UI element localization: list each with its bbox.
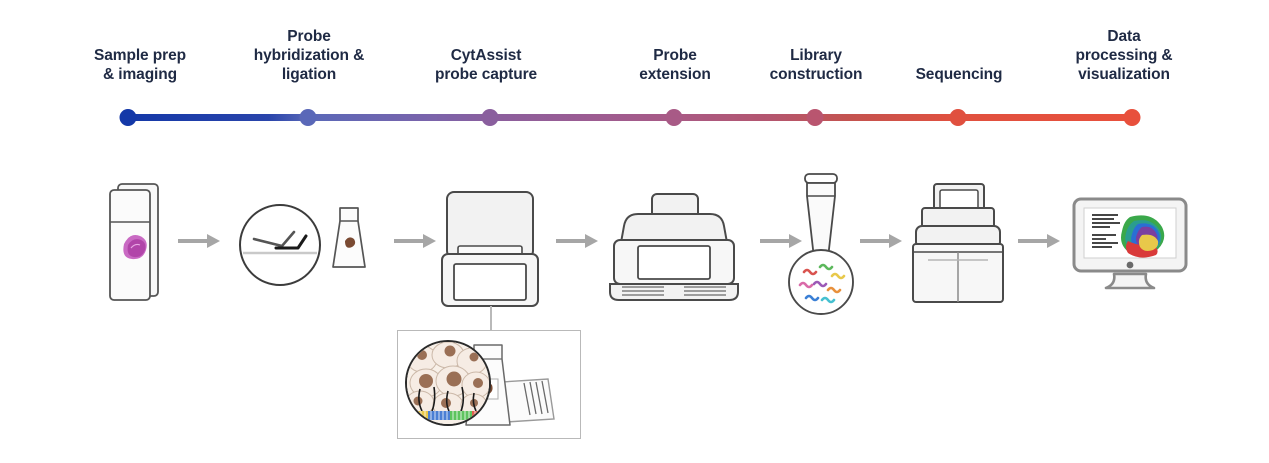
timeline-dot-data-processing: [1124, 109, 1141, 126]
thermocycler-icon: [604, 192, 744, 307]
arrow-5: [860, 234, 902, 248]
timeline-dot-probe-hyb: [300, 109, 317, 126]
step-label-probe-hyb: Probe hybridization & ligation: [218, 27, 400, 84]
timeline-dot-cytassist-capture: [482, 109, 499, 126]
sequencer-icon: [908, 182, 1008, 311]
library-tube-icon: [780, 172, 862, 323]
arrow-2: [394, 234, 436, 248]
step-label-data-processing: Data processing & visualization: [1040, 27, 1208, 84]
callout-cell-circle: [406, 341, 492, 425]
cytassist-instrument-icon: [440, 190, 540, 313]
arrow-1: [178, 234, 220, 248]
arrow-6: [1018, 234, 1060, 248]
microscope-slide-icon: [104, 182, 170, 307]
cytassist-detail-callout: [397, 330, 581, 439]
timeline-dot-sample-prep: [120, 109, 137, 126]
step-label-sample-prep: Sample prep & imaging: [60, 46, 220, 84]
workflow-diagram: Sample prep & imaging Probe hybridizatio…: [0, 0, 1269, 463]
step-label-probe-extension: Probe extension: [600, 46, 750, 84]
arrow-3: [556, 234, 598, 248]
timeline-track: [128, 114, 1132, 121]
timeline-dot-probe-extension: [666, 109, 683, 126]
step-label-sequencing: Sequencing: [888, 65, 1030, 84]
timeline-dot-library-construction: [807, 109, 824, 126]
callout-connector: [490, 306, 492, 330]
step-label-library-construction: Library construction: [738, 46, 894, 84]
timeline-dot-sequencing: [950, 109, 967, 126]
step-label-cytassist-capture: CytAssist probe capture: [396, 46, 576, 84]
monitor-icon: [1072, 197, 1188, 297]
probe-hybridization-icon: [236, 203, 324, 294]
reagent-vial-icon: [328, 205, 370, 278]
